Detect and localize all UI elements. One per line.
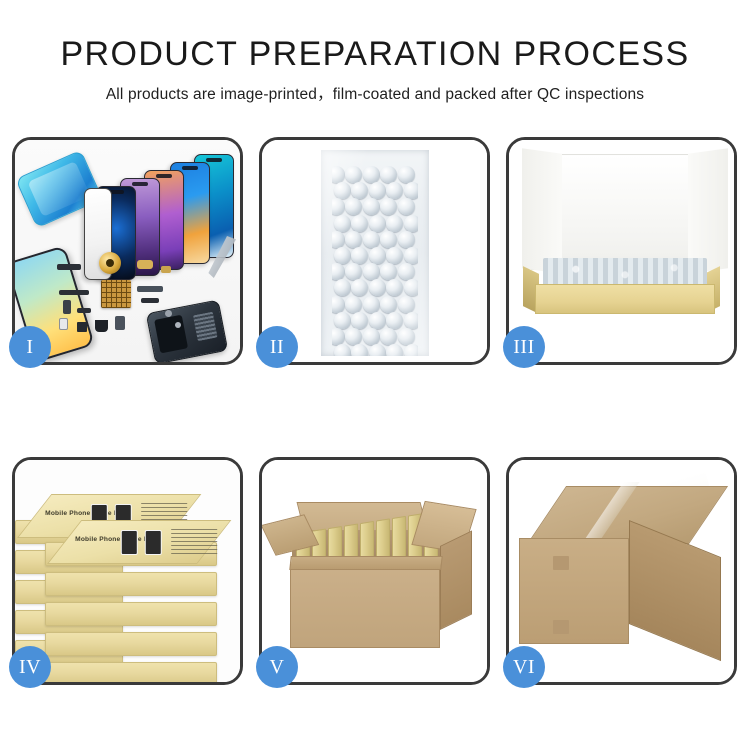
step-image-6 xyxy=(509,460,734,682)
bubble xyxy=(334,182,351,199)
bubble xyxy=(369,215,386,232)
step-panel-1: I xyxy=(12,137,243,365)
flex-cable-part xyxy=(137,286,163,292)
step-badge-3: III xyxy=(503,326,545,368)
screw-part xyxy=(165,310,172,317)
bubble xyxy=(386,215,403,232)
bubble xyxy=(334,215,351,232)
step-image-1 xyxy=(15,140,240,362)
chip-component xyxy=(101,280,131,308)
bubble xyxy=(386,279,403,296)
product-preparation-infographic: PRODUCT PREPARATION PROCESS All products… xyxy=(0,0,750,750)
sim-tray-part xyxy=(59,318,68,330)
speaker-component xyxy=(99,252,121,274)
bubble xyxy=(369,279,386,296)
small-part xyxy=(141,298,159,303)
bubble xyxy=(351,312,368,329)
retail-box xyxy=(45,602,217,626)
carton-handle-tab xyxy=(553,620,569,634)
bubble xyxy=(351,182,368,199)
header: PRODUCT PREPARATION PROCESS All products… xyxy=(0,0,750,104)
bubble-grid xyxy=(332,166,418,356)
step-badge-4: IV xyxy=(9,646,51,688)
carton-handle-tab xyxy=(553,556,569,570)
carton-side xyxy=(440,530,472,630)
step-panel-3: III xyxy=(506,137,737,365)
inner-box-lid xyxy=(531,154,719,270)
bubble xyxy=(334,344,351,356)
bubble-wrap-sheet xyxy=(321,150,429,356)
bubble xyxy=(332,328,345,345)
bubble xyxy=(404,279,418,296)
bubble xyxy=(380,166,397,183)
small-part xyxy=(63,300,71,314)
box-label-screen-image xyxy=(121,530,138,555)
small-part xyxy=(77,308,91,313)
bubble xyxy=(369,312,386,329)
page-title: PRODUCT PREPARATION PROCESS xyxy=(0,36,750,73)
carton-flap-front xyxy=(289,556,442,570)
bubble xyxy=(380,296,397,313)
bubble xyxy=(345,328,362,345)
bubble xyxy=(398,296,415,313)
bubble xyxy=(386,312,403,329)
bubble xyxy=(386,344,403,356)
steps-grid: I II III xyxy=(12,137,738,685)
bubble xyxy=(332,263,345,280)
retail-box xyxy=(45,572,217,596)
step-image-5 xyxy=(262,460,487,682)
bubble xyxy=(404,312,418,329)
bubble xyxy=(363,166,380,183)
bubble xyxy=(351,279,368,296)
step-image-4: Mobile Phone Spare PartsMobile Phone Spa… xyxy=(15,460,240,682)
bubble xyxy=(345,263,362,280)
retail-box xyxy=(45,662,217,682)
bubble xyxy=(398,166,415,183)
bubble xyxy=(345,231,362,248)
inner-box-front xyxy=(535,284,715,314)
connector-part xyxy=(161,266,171,273)
bubble xyxy=(369,182,386,199)
bubble xyxy=(380,263,397,280)
bubble xyxy=(404,182,418,199)
step-badge-6: VI xyxy=(503,646,545,688)
step-image-2 xyxy=(262,140,487,362)
retail-box xyxy=(45,632,217,656)
bubble xyxy=(398,198,415,215)
step-image-3 xyxy=(509,140,734,362)
bubble xyxy=(380,328,397,345)
bubble xyxy=(363,198,380,215)
step-panel-5: V xyxy=(259,457,490,685)
battery-part xyxy=(115,316,125,330)
bubble xyxy=(332,296,345,313)
page-subtitle: All products are image-printed，film-coat… xyxy=(0,82,750,104)
bubble xyxy=(386,182,403,199)
bubble xyxy=(351,247,368,264)
bubble xyxy=(334,279,351,296)
sealed-carton-front xyxy=(519,538,629,644)
bubble xyxy=(404,247,418,264)
step-panel-6: VI xyxy=(506,457,737,685)
bubble xyxy=(345,166,362,183)
bubble xyxy=(363,263,380,280)
bubble xyxy=(369,344,386,356)
bubble xyxy=(398,231,415,248)
bubble xyxy=(332,166,345,183)
camera-part xyxy=(95,320,108,332)
bubble xyxy=(386,247,403,264)
bubble xyxy=(351,344,368,356)
bubble xyxy=(345,198,362,215)
bubble xyxy=(363,231,380,248)
bubble xyxy=(398,263,415,280)
step-badge-5: V xyxy=(256,646,298,688)
bubble xyxy=(332,231,345,248)
bubble xyxy=(404,344,418,356)
bubble xyxy=(334,247,351,264)
screw-part xyxy=(175,322,181,328)
bubble xyxy=(398,328,415,345)
bubble xyxy=(380,231,397,248)
bubble xyxy=(351,215,368,232)
step-panel-4: Mobile Phone Spare PartsMobile Phone Spa… xyxy=(12,457,243,685)
bubble xyxy=(363,296,380,313)
bubble xyxy=(332,198,345,215)
flex-cable-part xyxy=(59,290,89,295)
bubble xyxy=(404,215,418,232)
bubble xyxy=(369,247,386,264)
carton-front xyxy=(290,564,440,648)
bubble-wrapped-contents xyxy=(543,258,707,286)
connector-part xyxy=(137,260,153,269)
bubble xyxy=(380,198,397,215)
box-label-spec-lines xyxy=(171,529,217,555)
step-badge-2: II xyxy=(256,326,298,368)
flex-cable-part xyxy=(57,264,81,270)
step-badge-1: I xyxy=(9,326,51,368)
retail-box-stack: Mobile Phone Spare PartsMobile Phone Spa… xyxy=(15,468,240,680)
bubble xyxy=(345,296,362,313)
bubble xyxy=(334,312,351,329)
box-label-screen-image xyxy=(145,530,162,555)
step-panel-2: II xyxy=(259,137,490,365)
bubble xyxy=(363,328,380,345)
small-part xyxy=(77,322,87,332)
